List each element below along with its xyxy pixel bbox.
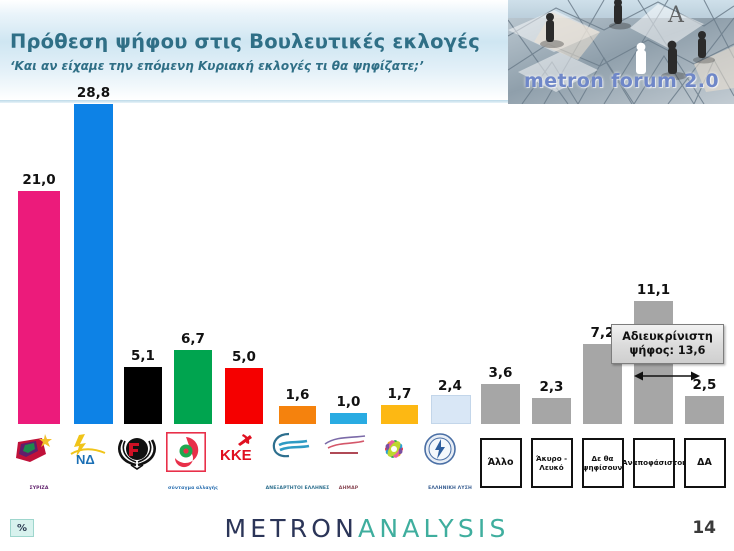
category-marker[interactable]: ΕΛΛΗΝΙΚΗ ΛΥΣΗ (431, 424, 469, 496)
vote-intention-bar-chart: 21,0 ΣΥΡΙΖΑ28,8 ΝΔ ΝΔ5,1 6,7 σύνταγμα αλ… (0, 104, 734, 496)
category-marker[interactable]: ΣΥΡΙΖΑ (18, 424, 60, 496)
page-title: Πρόθεση ψήφου στις Βουλευτικές εκλογές (10, 30, 510, 53)
bar-value-label: 28,8 (34, 85, 154, 101)
kke-logo: ΚΚΕ ΚΚΕ (217, 432, 271, 490)
elliniki-lysi-logo: ΕΛΛΗΝΙΚΗ ΛΥΣΗ (423, 432, 477, 490)
nd-logo: ΝΔ ΝΔ (67, 432, 121, 490)
syriza-logo: ΣΥΡΙΖΑ (12, 432, 66, 490)
category-box[interactable]: Αναποφάσιστοι (633, 438, 675, 488)
brand-metron: METRON (224, 514, 358, 543)
bar-2[interactable] (74, 104, 113, 424)
category-marker[interactable] (124, 424, 162, 496)
logo-caption: ΑΝΕΞΑΡΤΗΤΟΙ ΕΛΛΗΝΕΣ (266, 486, 330, 491)
page-number: 14 (692, 518, 716, 538)
logo-caption: ΕΛΛΗΝΙΚΗ ΛΥΣΗ (428, 486, 472, 491)
svg-text:A: A (667, 3, 685, 28)
bar-column[interactable]: 2,5 (685, 396, 724, 424)
chart-plot-area: 21,0 ΣΥΡΙΖΑ28,8 ΝΔ ΝΔ5,1 6,7 σύνταγμα αλ… (0, 104, 734, 496)
logo-caption: ΣΥΡΙΖΑ (29, 486, 48, 491)
bar-column[interactable]: 2,3 (532, 398, 571, 424)
bar-14[interactable] (685, 396, 724, 424)
category-box[interactable]: Δε θα ψηφίσουν (582, 438, 624, 488)
category-marker[interactable] (381, 424, 418, 496)
bar-1[interactable] (18, 191, 60, 424)
bar-11[interactable] (532, 398, 571, 424)
bar-column[interactable]: 28,8 (74, 104, 113, 424)
logo-caption: ΝΔ (90, 486, 98, 491)
potami-logo: σύνταγμα αλλαγής (166, 432, 220, 490)
logo-caption: ΚΚΕ (239, 486, 250, 491)
bar-7[interactable] (330, 413, 367, 424)
slide-footer: % METRONANALYSIS 14 (0, 496, 734, 551)
bar-value-label: 6,7 (133, 331, 253, 347)
category-marker[interactable]: Άλλο (481, 424, 520, 496)
bar-column[interactable]: 1,0 (330, 413, 367, 424)
bar-column[interactable]: 21,0 (18, 191, 60, 424)
category-box[interactable]: Άκυρο - Λευκό (531, 438, 573, 488)
enosi-kentroon-logo (373, 432, 427, 490)
category-marker[interactable]: Άκυρο - Λευκό (532, 424, 571, 496)
chrysi-avgi-logo (116, 432, 170, 490)
bar-value-label: 5,0 (184, 349, 304, 365)
brand-analysis: ANALYSIS (358, 514, 510, 543)
bar-column[interactable]: 2,4 (431, 397, 469, 424)
category-marker[interactable]: ΚΚΕ ΚΚΕ (225, 424, 263, 496)
bar-8[interactable] (381, 405, 418, 424)
metron-forum-logo-text: metron forum 2.0 (524, 70, 734, 92)
bar-9[interactable] (431, 395, 471, 424)
logo-caption: σύνταγμα αλλαγής (168, 486, 218, 491)
page-subtitle: ‘Και αν είχαμε την επόμενη Κυριακή εκλογ… (10, 59, 510, 73)
category-marker[interactable]: ΔΗΜΑΡ (330, 424, 367, 496)
bar-column[interactable]: 5,1 (124, 367, 162, 424)
category-marker[interactable]: σύνταγμα αλλαγής (174, 424, 212, 496)
bar-column[interactable]: 1,7 (381, 405, 418, 424)
metron-forum-logo: A metron forum 2.0 (508, 0, 734, 104)
category-box[interactable]: ΔΑ (684, 438, 726, 488)
category-box[interactable]: Άλλο (480, 438, 522, 488)
category-marker[interactable]: ΝΔ ΝΔ (74, 424, 113, 496)
bar-value-label: 11,1 (594, 282, 714, 298)
anel-logo: ΑΝΕΞΑΡΤΗΤΟΙ ΕΛΛΗΝΕΣ (271, 432, 325, 490)
category-marker[interactable]: Αναποφάσιστοι (634, 424, 673, 496)
dimar-logo: ΔΗΜΑΡ (322, 432, 376, 490)
category-marker[interactable]: ΔΑ (685, 424, 724, 496)
double-arrow-icon (634, 368, 700, 384)
logo-caption: ΔΗΜΑΡ (339, 486, 358, 491)
svg-text:ΝΔ: ΝΔ (76, 452, 95, 466)
metron-analysis-brand: METRONANALYSIS (0, 514, 734, 543)
category-marker[interactable]: Δε θα ψηφίσουν (583, 424, 622, 496)
undecided-vote-callout: Αδιευκρίνιστη ψήφος: 13,6 (611, 324, 724, 364)
category-marker[interactable]: ΑΝΕΞΑΡΤΗΤΟΙ ΕΛΛΗΝΕΣ (279, 424, 316, 496)
bar-3[interactable] (124, 367, 162, 424)
svg-text:ΚΚΕ: ΚΚΕ (220, 447, 252, 464)
